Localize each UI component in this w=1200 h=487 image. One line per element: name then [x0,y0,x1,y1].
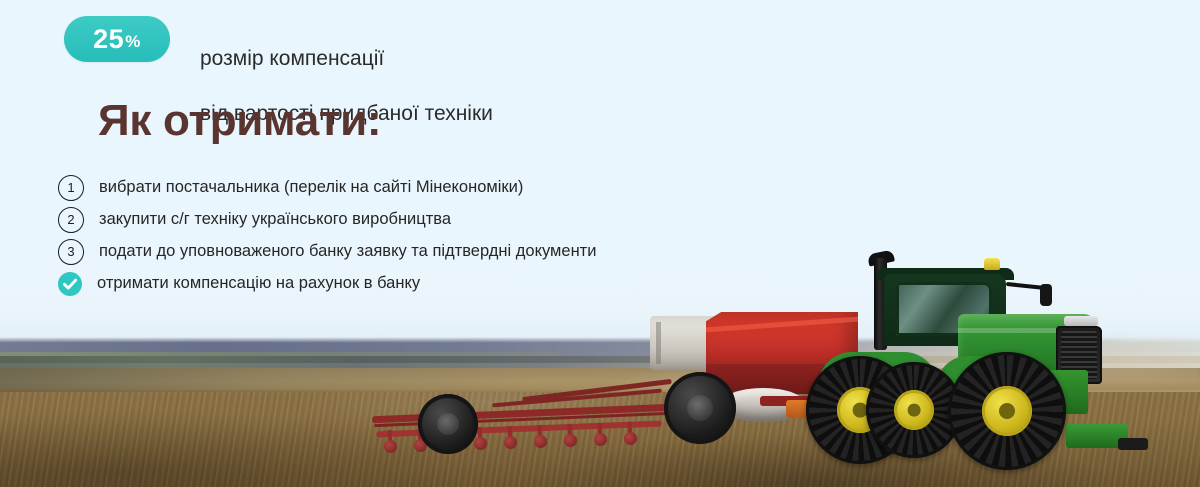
list-item: 2 закупити с/г техніку українського виро… [58,204,778,235]
subhead-line-1: розмір компенсації [200,45,493,73]
step-marker-1: 1 [58,175,84,201]
step-marker-2: 2 [58,207,84,233]
steps-list: 1 вибрати постачальника (перелік на сайт… [58,172,778,300]
step-text-2: закупити с/г техніку українського виробн… [99,210,451,230]
step-marker-3: 3 [58,239,84,265]
step-text-3: подати до уповноваженого банку заявку та… [99,242,596,262]
banner-stage: 25% розмір компенсації від вартості прид… [0,0,1200,487]
compensation-percent-badge: 25% [64,16,170,62]
page-title: Як отримати: [98,96,381,146]
badge-unit: % [125,33,141,50]
check-icon [58,272,82,296]
list-item: отримати компенсацію на рахунок в банку [58,268,778,299]
badge-value: 25 [93,26,124,53]
banner-content: 25% розмір компенсації від вартості прид… [0,0,1200,487]
step-text-1: вибрати постачальника (перелік на сайті … [99,178,523,198]
list-item: 1 вибрати постачальника (перелік на сайт… [58,172,778,203]
list-item: 3 подати до уповноваженого банку заявку … [58,236,778,267]
step-text-4: отримати компенсацію на рахунок в банку [97,274,420,294]
